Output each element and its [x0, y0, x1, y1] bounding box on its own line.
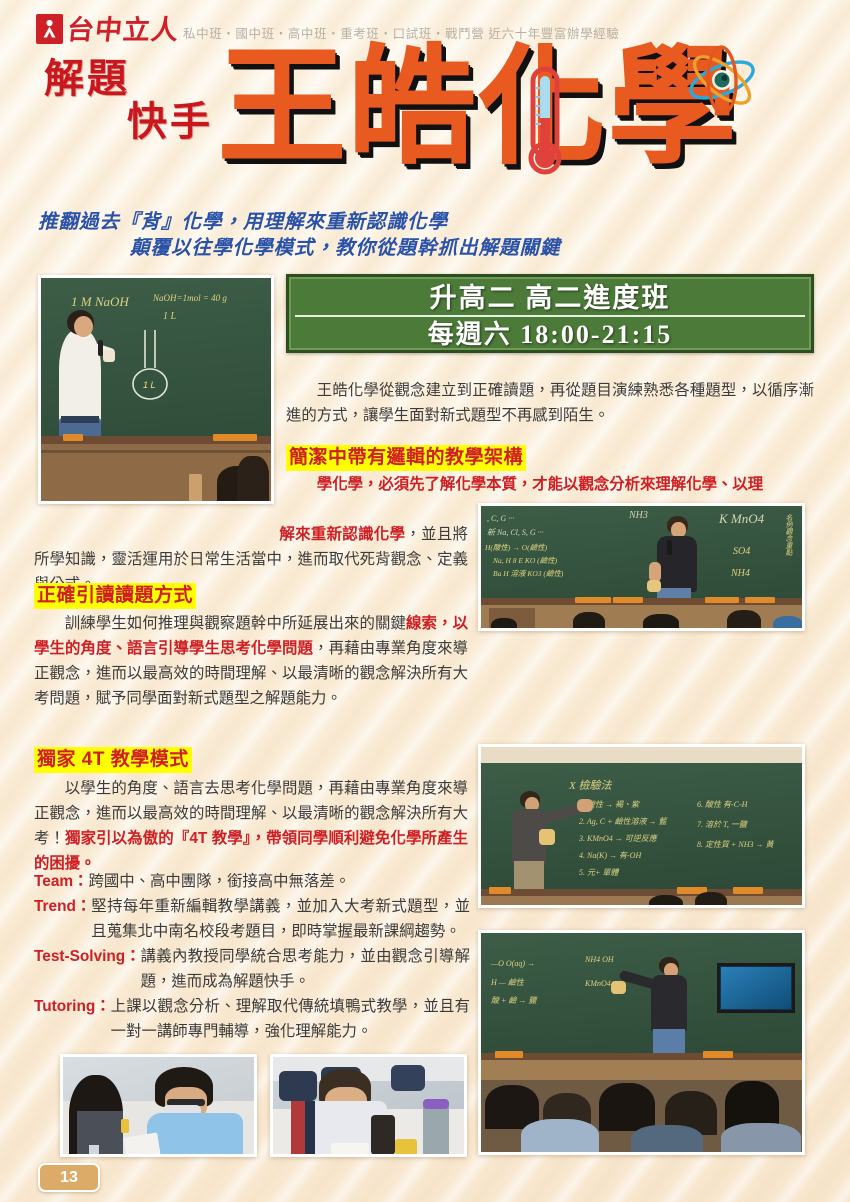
board-chalk-text: SO4	[733, 546, 750, 557]
section-2-body: 訓練學生如何推理與觀察題幹中所延展出來的關鍵線索，以學生的角度、語言引導學生思考…	[34, 611, 468, 711]
board-chalk-text: 新 Na, Cl, S, G ···	[487, 527, 544, 538]
section-3-highlight: 獨家引以為傲的『4T 教學』，帶領同學順利避免化學所產生的困擾。	[34, 830, 468, 872]
section-1-highlight-b: 解來重新認識化學	[279, 526, 405, 543]
four-t-key: Test-Solving：	[34, 944, 141, 994]
header-kicker: 解題 快手	[44, 58, 219, 144]
intro-paragraph-text: 王皓化學從觀念建立到正確讀題，再從題目演練熟悉各種題型，以循序漸進的方式，讓學生…	[286, 378, 814, 428]
list-item: Test-Solving： 講義內教授同學統合思考能力，並由觀念引導解題，進而成…	[34, 944, 470, 994]
four-t-value: 堅持每年重新編輯教學講義，並加入大考新式題型，並且蒐集北中南名校段考題目，即時掌…	[91, 894, 470, 944]
board-chalk-text: H(酸性) → O(鹼性)	[485, 542, 547, 553]
section-2-title: 正確引讀讀題方式	[34, 583, 196, 609]
class-banner: 升高二 高二進度班 每週六 18:00-21:15	[286, 274, 814, 353]
board-chalk-text: 8. 定性質 + NH3 → 黃	[697, 839, 774, 850]
board-chalk-text: 7. 溶於 T, 一鹽	[697, 819, 747, 830]
board-chalk-text: KMnO4	[585, 979, 611, 988]
list-item: Tutoring： 上課以觀念分析、理解取代傳統填鴨式教學，並且有一對一講師專門…	[34, 994, 470, 1044]
section-3-title: 獨家 4T 教學模式	[34, 747, 192, 773]
list-item: Team： 跨國中、高中團隊，銜接高中無落差。	[34, 869, 470, 894]
board-chalk-text: 1 M NaOH	[71, 294, 129, 310]
board-chalk-text: NaOH=1mol = 40 g	[153, 293, 227, 303]
photo-students-pair-2	[270, 1054, 467, 1157]
four-t-key: Tutoring：	[34, 994, 111, 1044]
board-chalk-text: 4. Na(K) → 有-OH	[579, 850, 641, 861]
board-chalk-text: 2. Ag, C + 鹼性溶液 → 藍	[579, 816, 666, 827]
intro-paragraph: 王皓化學從觀念建立到正確讀題，再從題目演練熟悉各種題型，以循序漸進的方式，讓學生…	[286, 378, 814, 428]
board-chalk-text: 1 L	[163, 311, 176, 322]
class-banner-course: 升高二 高二進度班	[295, 281, 805, 317]
board-chalk-text: H — 鹼性	[491, 977, 524, 988]
photo-students-pair-1	[60, 1054, 257, 1157]
page-number: 13	[38, 1163, 100, 1192]
subtitle-line-1: 推翻過去『背』化學，用理解來重新認識化學	[38, 208, 448, 237]
atom-icon	[683, 42, 761, 123]
board-chalk-text: K MnO4	[719, 511, 764, 527]
board-chalk-text: , C, G ···	[487, 514, 514, 523]
board-chalk-text: 酸 + 鹼 → 鹽	[491, 995, 536, 1006]
header-subtitle: 推翻過去『背』化學，用理解來重新認識化學 顛覆以往學化學模式，教你從題幹抓出解題…	[0, 206, 850, 268]
header-kicker-line-1: 解題	[44, 56, 130, 101]
four-t-key: Team：	[34, 869, 88, 894]
photo-students-wide: —O O(aq) → H — 鹼性 酸 + 鹼 → 鹽 NH4 OH KMnO4	[478, 930, 805, 1155]
thermometer-icon	[525, 66, 565, 183]
section-3-body: 以學生的角度、語言去思考化學問題，再藉由專業角度來導正觀念，進而以最高效的時間理…	[34, 776, 468, 876]
board-chalk-text: NH4 OH	[585, 955, 614, 964]
list-item: Trend： 堅持每年重新編輯教學講義，並加入大考新式題型，並且蒐集北中南名校段…	[34, 894, 470, 944]
board-chalk-text: 3. KMnO4 → 可逆反應	[579, 833, 657, 844]
four-t-list: Team： 跨國中、高中團隊，銜接高中無落差。 Trend： 堅持每年重新編輯教…	[34, 869, 470, 1044]
person-in-box-icon	[36, 14, 63, 44]
photo-teacher-board: 1 M NaOH NaOH=1mol = 40 g 1 L 1 L	[38, 275, 274, 504]
poster-header: 台中立人 私中班・國中班・高中班・重考班・口試班・戰鬥營 近六十年豐富辦學經驗 …	[0, 0, 850, 205]
header-title-block: 王皓化學	[218, 44, 848, 199]
four-t-value: 跨國中、高中團隊，銜接高中無落差。	[88, 869, 470, 894]
poster-page: 台中立人 私中班・國中班・高中班・重考班・口試班・戰鬥營 近六十年豐富辦學經驗 …	[0, 0, 850, 1202]
subtitle-line-2: 顛覆以往學化學模式，教你從題幹抓出解題關鍵	[130, 234, 561, 263]
board-chalk-text: 名例觀念重點	[784, 514, 794, 556]
photo-teacher-point: X 檢驗法 1. 酸性 → 褐、紫 2. Ag, C + 鹼性溶液 → 藍 3.…	[478, 744, 805, 908]
four-t-value: 上課以觀念分析、理解取代傳統填鴨式教學，並且有一對一講師專門輔導，強化理解能力。	[111, 994, 470, 1044]
board-chalk-text: 6. 酸性 有-C-H	[697, 799, 747, 810]
board-chalk-text: —O O(aq) →	[491, 959, 535, 968]
brand-name: 台中立人	[66, 17, 181, 44]
four-t-value: 講義內教授同學統合思考能力，並由觀念引導解題，進而成為解題快手。	[141, 944, 470, 994]
board-chalk-text: 5. 元+ 單體	[579, 867, 618, 878]
photo-class-lecture: , C, G ··· 新 Na, Cl, S, G ··· H(酸性) → O(…	[478, 503, 805, 631]
board-chalk-text: NH4	[731, 568, 750, 579]
board-chalk-text: Ba H 溶液 KO3 (鹼性)	[493, 568, 563, 579]
board-chalk-text: Na, H 8 E KO (鹼性)	[493, 555, 557, 566]
svg-text:1 L: 1 L	[143, 380, 156, 390]
section-1-highlight-a: 學化學，必須先了解化學本質，才能以觀念分析來理解化學、以理	[317, 476, 763, 493]
four-t-key: Trend：	[34, 894, 91, 944]
section-1-title: 簡潔中帶有邏輯的教學架構	[286, 445, 526, 471]
board-chalk-text: NH3	[629, 510, 648, 521]
board-chalk-text: X 檢驗法	[569, 777, 611, 793]
section-2-plain-a: 訓練學生如何推理與觀察題幹中所延展出來的關鍵	[65, 615, 406, 632]
section-1-body-top: 學化學，必須先了解化學本質，才能以觀念分析來理解化學、以理	[286, 472, 814, 497]
class-banner-schedule: 每週六 18:00-21:15	[295, 317, 805, 351]
header-kicker-line-2: 快手	[44, 101, 219, 144]
